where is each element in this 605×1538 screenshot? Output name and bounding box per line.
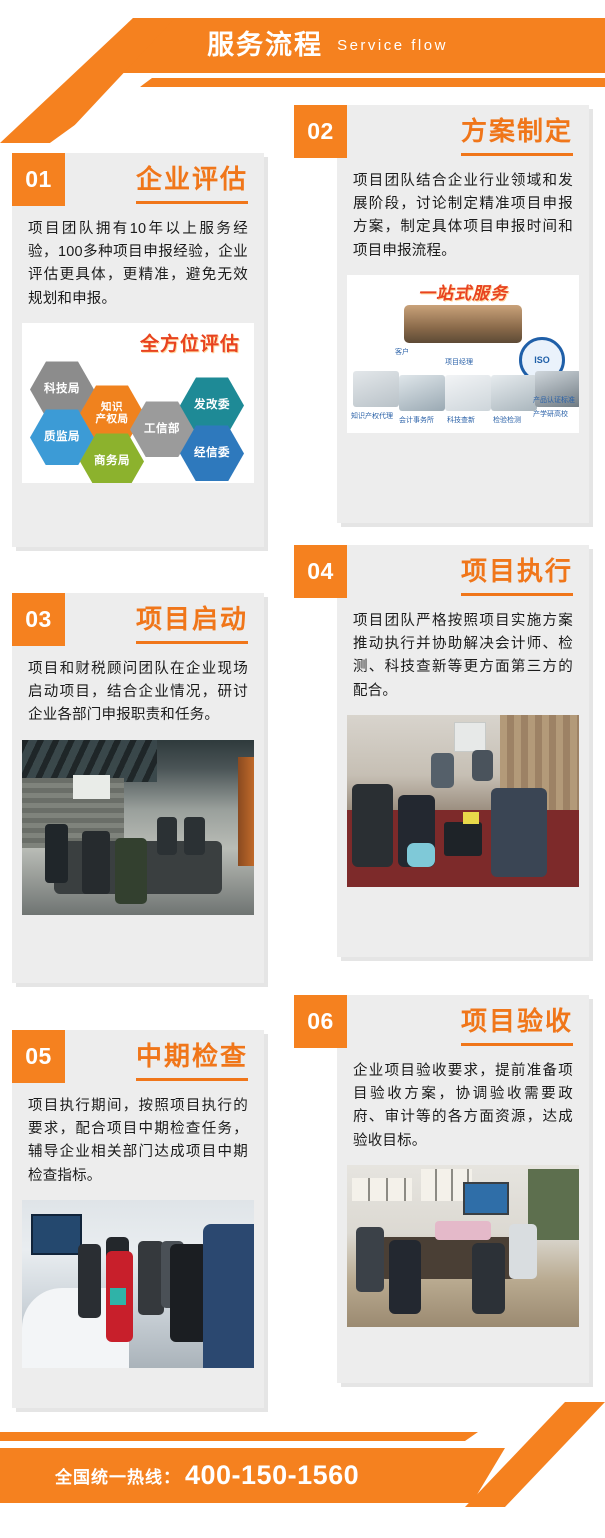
onestop-node-label-5: 产品认证标准 <box>533 395 575 405</box>
card-05-badge: 05 <box>12 1030 65 1083</box>
onestop-label-manager: 项目经理 <box>445 357 473 367</box>
card-02-head: 方案制定 <box>337 105 589 156</box>
photo-showroom-visit <box>22 1200 254 1368</box>
card-06[interactable]: 项目验收 企业项目验收要求，提前准备项目验收方案，协调验收需要政府、审计等的各方… <box>337 995 589 1383</box>
onestop-diagram-title: 一站式服务 <box>347 279 579 304</box>
card-02-badge: 02 <box>294 105 347 158</box>
card-01[interactable]: 企业评估 项目团队拥有10年以上服务经验，100多种项目申报经验，企业评估更具体… <box>12 153 264 547</box>
one-stop-service-diagram: 一站式服务 客户 项目经理 ISO 知识产权代理 会计事务所 科技查新 检验检测… <box>347 275 579 433</box>
onestop-node-label-3: 检验检测 <box>493 415 521 425</box>
photo-conference-room-meeting <box>22 740 254 915</box>
card-04-title: 项目执行 <box>461 555 573 596</box>
photo-team-working-laptops <box>347 715 579 887</box>
onestop-node-label-2: 科技查新 <box>447 415 475 425</box>
card-02-body: 项目团队结合企业行业领域和发展阶段，讨论制定精准项目申报方案，制定具体项目申报时… <box>337 156 589 276</box>
card-06-head: 项目验收 <box>337 995 589 1046</box>
onestop-node-label-1: 会计事务所 <box>399 415 434 425</box>
footer-thin-stripe <box>0 1432 605 1441</box>
photo-acceptance-meeting <box>347 1165 579 1327</box>
onestop-node-label-4: 产学研高校 <box>533 409 568 419</box>
onestop-hub-photo <box>404 305 522 343</box>
card-06-body: 企业项目验收要求，提前准备项目验收方案，协调验收需要政府、审计等的各方面资源，达… <box>337 1046 589 1166</box>
card-05-media <box>22 1200 254 1368</box>
card-06-badge: 06 <box>294 995 347 1048</box>
card-03-body: 项目和财税顾问团队在企业现场启动项目，结合企业情况，研讨企业各部门申报职责和任务… <box>12 644 264 740</box>
card-01-title: 企业评估 <box>136 163 248 204</box>
card-05-body: 项目执行期间，按照项目执行的要求，配合项目中期检查任务，辅导企业相关部门达成项目… <box>12 1081 264 1201</box>
onestop-node-0 <box>353 371 399 407</box>
card-05-title: 中期检查 <box>136 1040 248 1081</box>
card-03-badge: 03 <box>12 593 65 646</box>
hotline-number[interactable]: 400-150-1560 <box>185 1460 359 1491</box>
onestop-label-customer: 客户 <box>395 347 409 357</box>
card-04[interactable]: 项目执行 项目团队严格按照项目实施方案推动执行并协助解决会计师、检测、科技查新等… <box>337 545 589 957</box>
service-flow-infographic: 服务流程 Service flow 企业评估 项目团队拥有10年以上服务经验，1… <box>0 0 605 1538</box>
onestop-node-2 <box>445 375 491 411</box>
footer-hotline-group: 全国统一热线： 400-150-1560 <box>0 1448 440 1503</box>
card-01-media: 全方位评估 科技局 知识产权局 质监局 工信部 发改委 商务局 经信委 <box>22 323 254 483</box>
card-05[interactable]: 中期检查 项目执行期间，按照项目执行的要求，配合项目中期检查任务，辅导企业相关部… <box>12 1030 264 1408</box>
card-02[interactable]: 方案制定 项目团队结合企业行业领域和发展阶段，讨论制定精准项目申报方案，制定具体… <box>337 105 589 523</box>
page-title: 服务流程 <box>207 32 323 59</box>
header-title-group: 服务流程 Service flow <box>0 18 605 73</box>
page-header: 服务流程 Service flow <box>0 0 605 100</box>
onestop-node-3 <box>491 375 537 411</box>
onestop-node-1 <box>399 375 445 411</box>
card-04-head: 项目执行 <box>337 545 589 596</box>
card-03[interactable]: 项目启动 项目和财税顾问团队在企业现场启动项目，结合企业情况，研讨企业各部门申报… <box>12 593 264 983</box>
card-02-title: 方案制定 <box>461 115 573 156</box>
card-01-badge: 01 <box>12 153 65 206</box>
card-04-badge: 04 <box>294 545 347 598</box>
page-subtitle: Service flow <box>337 38 448 53</box>
card-04-media <box>347 715 579 887</box>
card-04-body: 项目团队严格按照项目实施方案推动执行并协助解决会计师、检测、科技查新等更方面第三… <box>337 596 589 716</box>
card-06-media <box>347 1165 579 1327</box>
page-footer: 全国统一热线： 400-150-1560 <box>0 1410 605 1538</box>
onestop-node-label-0: 知识产权代理 <box>351 411 393 421</box>
card-03-media <box>22 740 254 915</box>
hexagon-assessment-diagram: 全方位评估 科技局 知识产权局 质监局 工信部 发改委 商务局 经信委 <box>22 323 254 483</box>
card-03-title: 项目启动 <box>136 603 248 644</box>
hotline-label: 全国统一热线： <box>55 1463 181 1488</box>
card-06-title: 项目验收 <box>461 1005 573 1046</box>
card-02-media: 一站式服务 客户 项目经理 ISO 知识产权代理 会计事务所 科技查新 检验检测… <box>347 275 579 433</box>
card-01-body: 项目团队拥有10年以上服务经验，100多种项目申报经验，企业评估更具体，更精准，… <box>12 204 264 324</box>
hexagon-diagram-title: 全方位评估 <box>140 329 240 356</box>
